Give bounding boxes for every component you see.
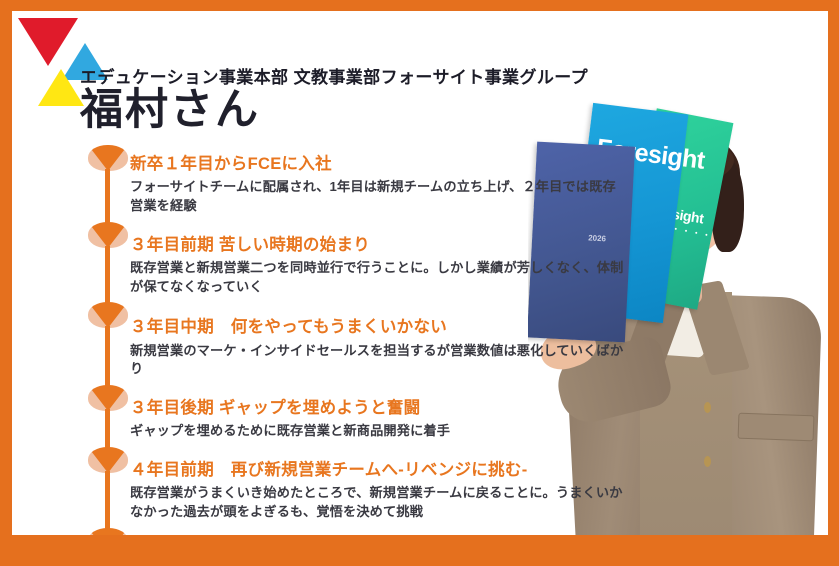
timeline-arrow-icon xyxy=(88,522,128,535)
blazer-pocket xyxy=(738,413,815,442)
slide-root: エデュケーション事業本部 文教事業部フォーサイト事業グループ 福村さん xyxy=(0,0,839,566)
timeline-step-2: ３年目前期 苦しい時期の始まり 既存営業と新規営業二つを同時並行で行うことに。し… xyxy=(80,216,640,297)
arrow-stem-top xyxy=(105,202,110,224)
timeline-step-body: 新規営業のマーケ・インサイドセールスを担当するが営業数値は悪化していくばかり xyxy=(130,342,625,379)
arrow-head xyxy=(88,447,128,473)
arrow-stem-top xyxy=(105,427,110,449)
arrow-stem-top xyxy=(105,282,110,304)
timeline-step-title: ３年目後期 ギャップを埋めようと奮闘 xyxy=(130,397,640,419)
blazer-button-1 xyxy=(704,402,711,413)
timeline-step-title: ４年目前期 再び新規営業チームへ-リベンジに挑む- xyxy=(130,459,640,481)
timeline-step-body: フォーサイトチームに配属され、1年目は新規チームの立ち上げ、２年目では既存営業を… xyxy=(130,178,625,215)
timeline-step-5: ４年目前期 再び新規営業チームへ-リベンジに挑む- 既存営業がうまくいき始めたと… xyxy=(80,441,640,522)
arrow-head xyxy=(88,222,128,248)
timeline-step-body: ギャップを埋めるために既存営業と新商品開発に着手 xyxy=(130,422,625,441)
arrow-head xyxy=(88,145,128,171)
arrow-head xyxy=(88,302,128,328)
arrow-stem-top xyxy=(105,365,110,387)
timeline-step-title: ３年目中期 何をやってもうまくいかない xyxy=(130,316,640,338)
timeline-step-body: 既存営業と新規営業二つを同時並行で行うことに。しかし業績が芳しくなく、体制が保て… xyxy=(130,259,625,296)
timeline-step-body: 既存営業がうまくいき始めたところで、新規営業チームに戻ることに。うまくいかなかっ… xyxy=(130,484,625,521)
blazer-button-2 xyxy=(704,456,711,467)
department-label: エデュケーション事業本部 文教事業部フォーサイト事業グループ xyxy=(80,63,588,88)
timeline-step-title: 新卒１年目からFCEに入社 xyxy=(130,153,640,175)
timeline-step-3: ３年目中期 何をやってもうまくいかない 新規営業のマーケ・インサイドセールスを担… xyxy=(80,296,640,379)
timeline-step-4: ３年目後期 ギャップを埋めようと奮闘 ギャップを埋めるために既存営業と新商品開発… xyxy=(80,379,640,441)
page-title: 福村さん xyxy=(80,86,260,134)
arrow-stem-top xyxy=(105,508,110,530)
logo-triangle-yellow xyxy=(38,69,84,106)
timeline-step-1: 新卒１年目からFCEに入社 フォーサイトチームに配属され、1年目は新規チームの立… xyxy=(80,139,640,216)
slide-canvas: エデュケーション事業本部 文教事業部フォーサイト事業グループ 福村さん xyxy=(12,11,828,535)
timeline-step-6: ４年目後期 前年比180%の成果を出し、ターゲット目標達成 xyxy=(80,522,640,535)
arrow-head xyxy=(88,528,128,535)
arrow-head xyxy=(88,385,128,411)
career-timeline: 新卒１年目からFCEに入社 フォーサイトチームに配属され、1年目は新規チームの立… xyxy=(80,139,640,535)
timeline-step-title: ３年目前期 苦しい時期の始まり xyxy=(130,234,640,256)
